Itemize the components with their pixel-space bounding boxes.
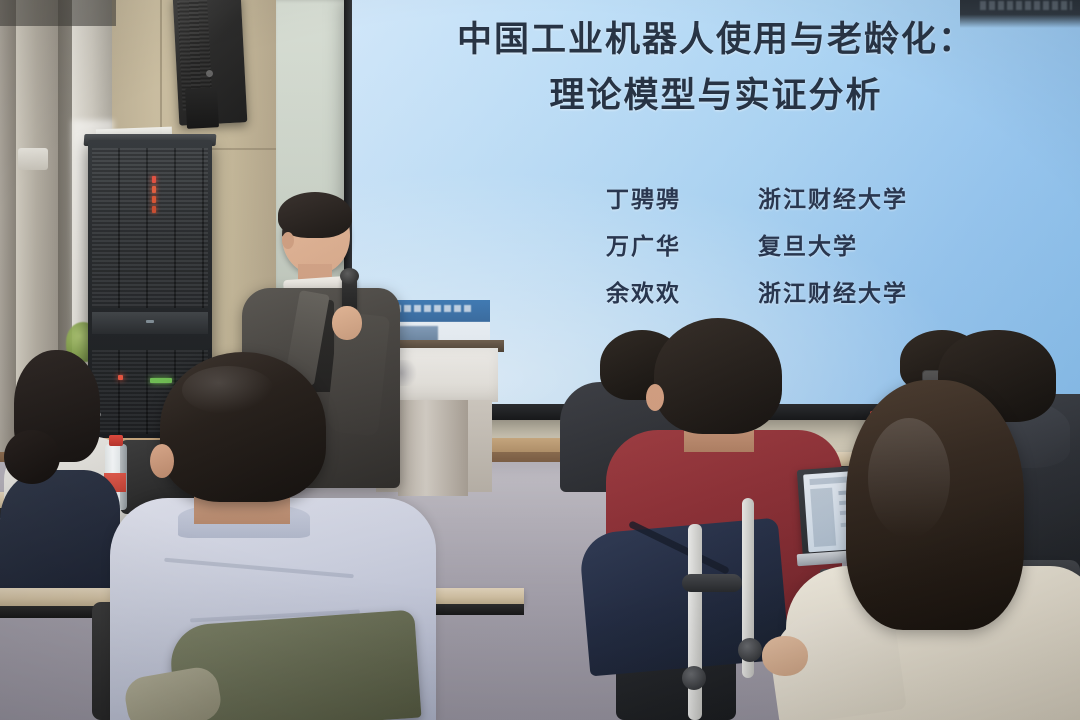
audience-ear — [150, 444, 174, 478]
rack-shelf — [92, 312, 208, 334]
microphone-head — [340, 268, 359, 284]
author-list: 丁骋骋 浙江财经大学 万广华 复旦大学 余欢欢 浙江财经大学 — [606, 180, 1026, 321]
author-name: 余欢欢 — [606, 274, 758, 308]
speaker-mount — [185, 87, 219, 129]
author-affiliation: 浙江财经大学 — [758, 274, 1026, 308]
audience-ear — [646, 384, 664, 411]
author-row: 余欢欢 浙江财经大学 — [606, 274, 1026, 308]
author-affiliation: 浙江财经大学 — [758, 180, 1026, 214]
curtain-clip — [18, 148, 48, 170]
audience-head — [654, 318, 782, 434]
author-row: 万广华 复旦大学 — [606, 227, 1026, 261]
speaker-badge — [206, 70, 213, 77]
status-led — [152, 186, 156, 193]
audience-torso — [0, 470, 120, 602]
chair-armrest — [682, 574, 742, 592]
author-affiliation: 复旦大学 — [758, 227, 1026, 261]
status-led — [152, 176, 156, 183]
rack-indicator — [146, 320, 154, 323]
status-led — [152, 206, 156, 213]
presenter-hair — [278, 192, 352, 238]
audience-member-navy — [0, 452, 120, 602]
audience-head — [4, 430, 60, 484]
audience-hand — [762, 636, 808, 676]
ceiling-shadow — [0, 0, 116, 26]
chair-caster — [682, 666, 706, 690]
author-row: 丁骋骋 浙江财经大学 — [606, 180, 1026, 214]
chair-frame — [688, 524, 702, 720]
status-led — [152, 196, 156, 203]
hair-highlight — [182, 366, 274, 414]
rack-mesh — [92, 148, 208, 308]
chair-caster — [738, 638, 762, 662]
audience-member-cream — [802, 396, 1080, 720]
hair-highlight — [868, 418, 950, 538]
slide-title-line-2: 理论模型与实证分析 — [348, 74, 1080, 119]
presenter-hand — [332, 306, 362, 340]
author-name: 万广华 — [606, 227, 758, 261]
audience-member-foreground — [120, 352, 450, 720]
slide-title-line-1: 中国工业机器人使用与老龄化： — [348, 18, 1080, 63]
presentation-photo: 中国工业机器人使用与老龄化： 理论模型与实证分析 丁骋骋 浙江财经大学 万广华 … — [0, 0, 1080, 720]
author-name: 丁骋骋 — [606, 180, 758, 214]
presenter-ear — [282, 232, 294, 249]
